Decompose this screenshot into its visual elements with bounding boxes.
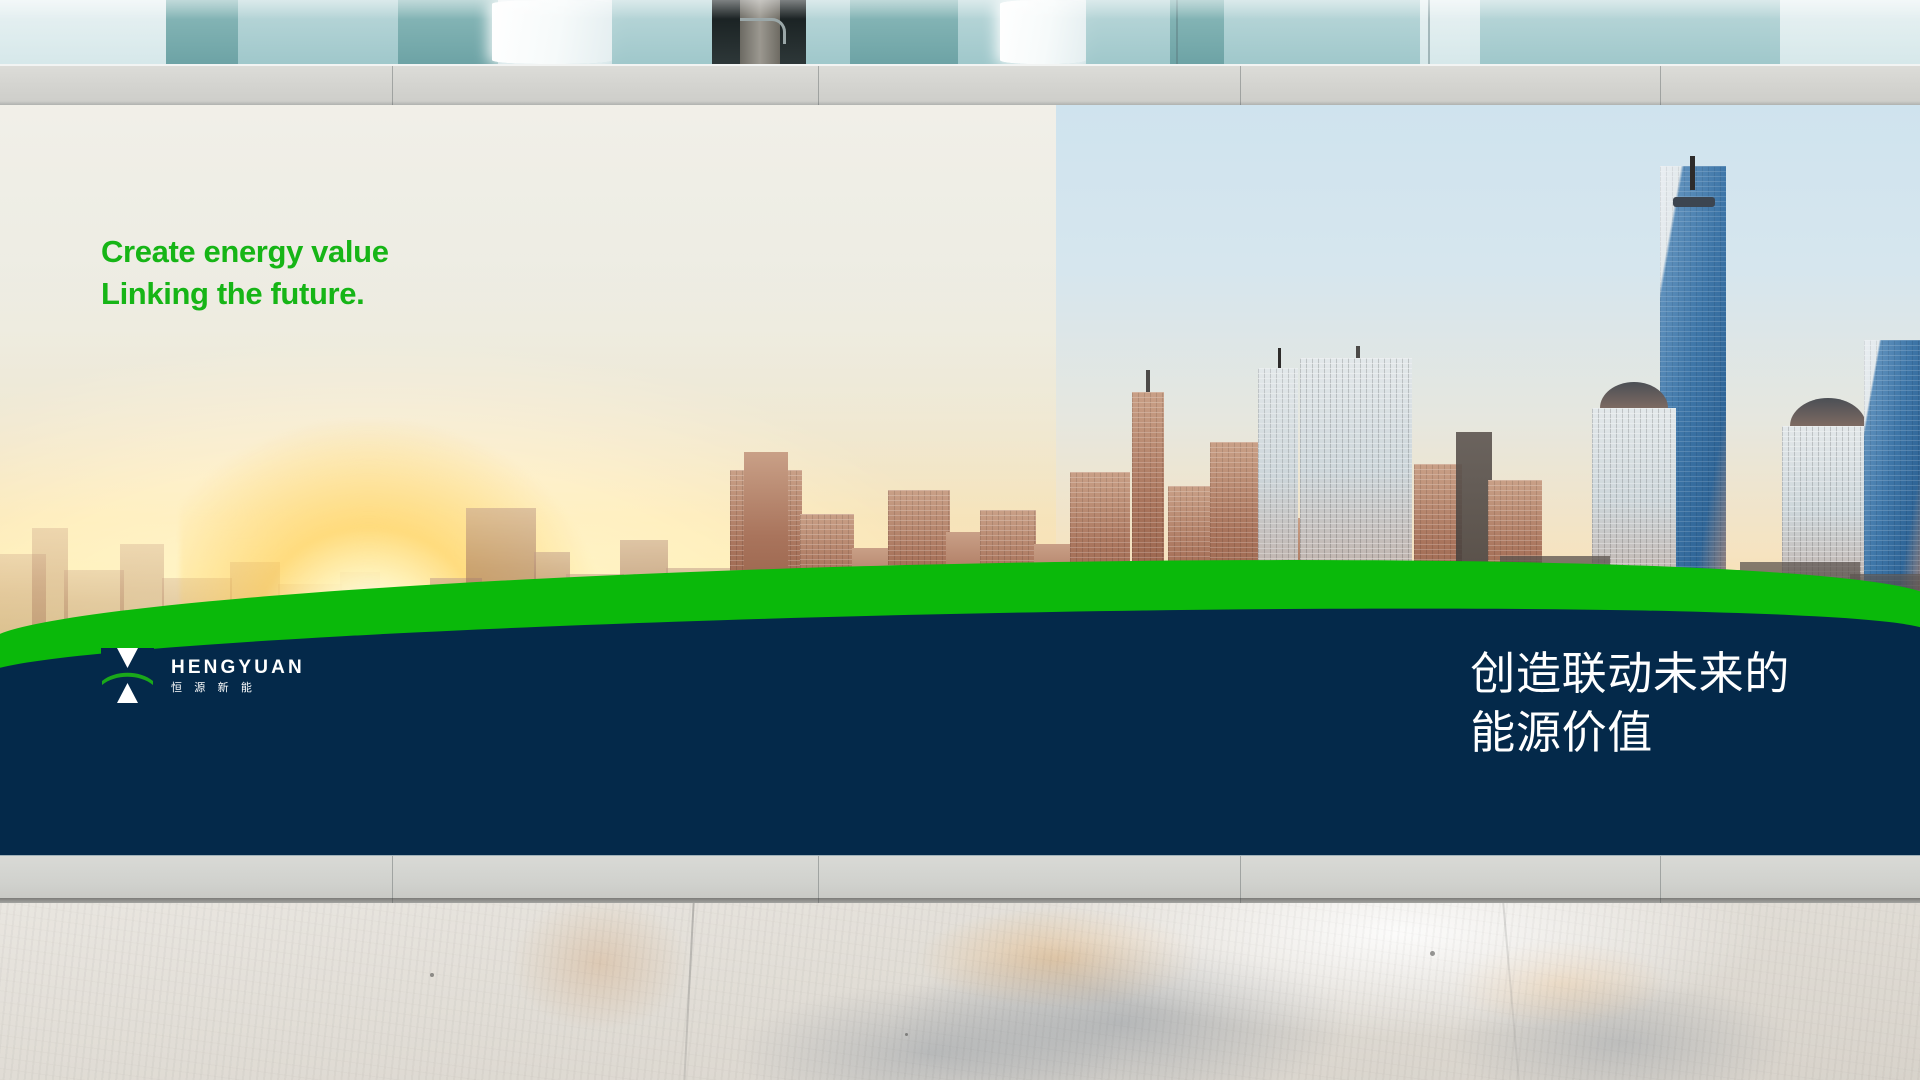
hengyuan-wordmark: HENGYUAN 恒 源 新 能 (171, 658, 305, 693)
lower-concrete-ledge (0, 855, 1920, 903)
glass-pane (166, 0, 238, 64)
hengyuan-logo-lockup[interactable]: HENGYUAN 恒 源 新 能 (101, 648, 305, 703)
floor-speck (430, 973, 434, 977)
ledge-seam (1240, 856, 1241, 903)
glass-pane (0, 0, 166, 64)
ledge-seam (1660, 856, 1661, 903)
billboard-mockup-scene: Create energy value Linking the future. … (0, 0, 1920, 1080)
headline-chinese: 创造联动未来的 能源价值 (1470, 645, 1790, 762)
facade-column (492, 0, 612, 64)
headline-english: Create energy value Linking the future. (101, 231, 389, 315)
glass-seam (1428, 0, 1430, 64)
facade-column (1000, 0, 1086, 64)
floor-texture (0, 903, 1920, 1080)
glass-pane (1480, 0, 1780, 64)
wall-spout-icon (740, 18, 786, 44)
upper-concrete-ledge (0, 64, 1920, 105)
glass-pane (1086, 0, 1170, 64)
glass-pane (806, 0, 850, 64)
ledge-seam (818, 856, 819, 903)
ledge-seam (392, 856, 393, 903)
ledge-seam (1660, 66, 1661, 105)
glass-seam (1176, 0, 1178, 64)
ledge-seam (1240, 66, 1241, 105)
wordmark-latin: HENGYUAN (171, 658, 305, 677)
glass-pane (612, 0, 712, 64)
facade-reveal-gap (712, 0, 740, 64)
hengyuan-logo-mark (101, 648, 154, 703)
concrete-floor (0, 903, 1920, 1080)
floor-speck (1430, 951, 1435, 956)
glass-pane (850, 0, 958, 64)
wtc-observation-ring (1673, 197, 1715, 207)
glass-pane (1224, 0, 1420, 64)
ledge-seam (392, 66, 393, 105)
glass-pane (398, 0, 498, 64)
floor-speck (905, 1033, 908, 1036)
ledge-seam (818, 66, 819, 105)
wordmark-chinese: 恒 源 新 能 (171, 682, 305, 693)
glass-facade-backdrop (0, 0, 1920, 64)
glass-pane (238, 0, 398, 64)
billboard-panel[interactable]: Create energy value Linking the future. … (0, 105, 1920, 855)
glass-pane (1170, 0, 1224, 64)
glass-pane (1780, 0, 1920, 64)
